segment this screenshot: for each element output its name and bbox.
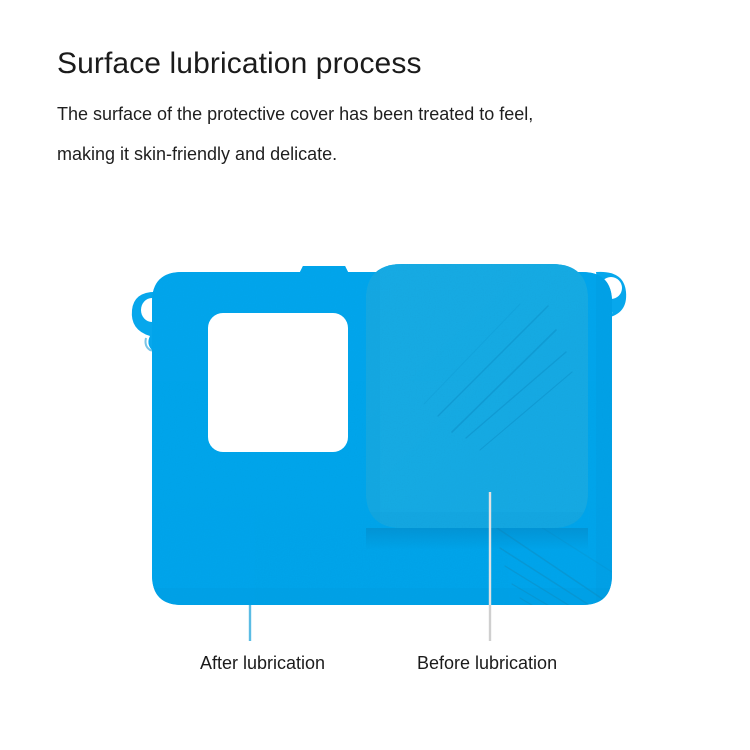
caption-after-lubrication: After lubrication [200,652,325,674]
screen-cutout [208,313,348,452]
caption-before-lubrication: Before lubrication [417,652,557,674]
product-feature-page: Surface lubrication process The surface … [0,0,750,750]
product-photo-svg [0,0,750,750]
flap-drop-shadow [366,528,588,550]
flap-texture [360,258,596,536]
product-illustration [0,0,750,750]
lens-cap-flap [360,258,596,536]
